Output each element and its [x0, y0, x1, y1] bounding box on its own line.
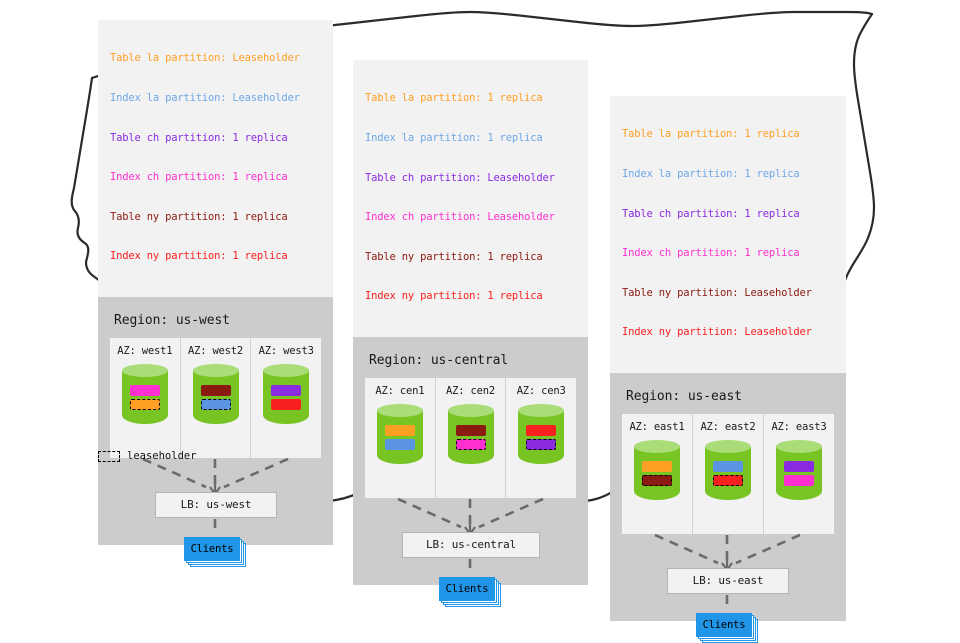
partition-stripe: [784, 461, 814, 472]
region-panel-us-west: Region: us-west AZ: west1 AZ: west2: [98, 297, 333, 545]
region-panel-us-central: Region: us-central AZ: cen1 AZ: cen2: [353, 337, 588, 585]
clients-label: Clients: [696, 613, 752, 637]
partition-line: Index la partition: Leaseholder: [110, 92, 323, 105]
region-title: Region: us-east: [626, 389, 834, 404]
az-row: AZ: cen1 AZ: cen2: [365, 378, 576, 498]
database-icon: [263, 364, 309, 430]
partition-stripe: [201, 385, 231, 396]
database-icon: [776, 440, 822, 506]
partition-stripe: [784, 475, 814, 486]
partition-line: Table ny partition: 1 replica: [365, 251, 578, 264]
az-label: AZ: cen3: [517, 385, 566, 397]
partition-stripe: [130, 385, 160, 396]
az-cell-cen2[interactable]: AZ: cen2: [435, 378, 506, 498]
az-cell-east3[interactable]: AZ: east3: [763, 414, 834, 534]
partition-line: Index ny partition: 1 replica: [365, 290, 578, 303]
partition-line: Index ny partition: Leaseholder: [622, 326, 836, 339]
partition-stripe: [456, 425, 486, 436]
partition-line: Table ny partition: Leaseholder: [622, 287, 836, 300]
leaseholder-legend-label: leaseholder: [127, 450, 197, 462]
partition-line: Index ny partition: 1 replica: [110, 250, 323, 263]
region-us-east: Table la partition: 1 replica Index la p…: [610, 96, 846, 621]
az-cell-west1[interactable]: AZ: west1: [110, 338, 180, 458]
clients-label: Clients: [439, 577, 495, 601]
partition-line: Table ny partition: 1 replica: [110, 211, 323, 224]
az-label: AZ: east3: [771, 421, 826, 433]
az-label: AZ: cen2: [446, 385, 495, 397]
partition-stripe: [385, 425, 415, 436]
partition-legend-us-central: Table la partition: 1 replica Index la p…: [353, 60, 588, 337]
az-row: AZ: west1 AZ: west2: [110, 338, 321, 458]
az-label: AZ: west3: [259, 345, 314, 357]
clients-us-central[interactable]: Clients: [439, 577, 501, 607]
partition-line: Index ch partition: 1 replica: [622, 247, 836, 260]
partition-line: Table la partition: Leaseholder: [110, 52, 323, 65]
partition-stripe: [271, 385, 301, 396]
leaseholder-legend: leaseholder: [98, 450, 197, 462]
az-row: AZ: east1 AZ: east2: [622, 414, 834, 534]
partition-line: Index ch partition: 1 replica: [110, 171, 323, 184]
az-label: AZ: east1: [629, 421, 684, 433]
partition-stripe-leaseholder: [713, 475, 743, 486]
az-cell-east2[interactable]: AZ: east2: [692, 414, 763, 534]
partition-stripe: [713, 461, 743, 472]
az-cell-east1[interactable]: AZ: east1: [622, 414, 692, 534]
database-icon: [705, 440, 751, 506]
partition-stripe: [385, 439, 415, 450]
load-balancer-us-west[interactable]: LB: us-west: [155, 492, 277, 518]
database-icon: [193, 364, 239, 430]
az-label: AZ: west2: [188, 345, 243, 357]
region-panel-us-east: Region: us-east AZ: east1 AZ: east2: [610, 373, 846, 621]
clients-us-west[interactable]: Clients: [184, 537, 246, 567]
region-us-west: Table la partition: Leaseholder Index la…: [98, 20, 333, 545]
region-title: Region: us-central: [369, 353, 576, 368]
az-cell-cen3[interactable]: AZ: cen3: [505, 378, 576, 498]
partition-line: Table la partition: 1 replica: [622, 128, 836, 141]
partition-stripe: [642, 461, 672, 472]
partition-line: Table ch partition: Leaseholder: [365, 172, 578, 185]
partition-stripe: [271, 399, 301, 410]
load-balancer-us-central[interactable]: LB: us-central: [402, 532, 540, 558]
partition-line: Index la partition: 1 replica: [365, 132, 578, 145]
az-label: AZ: west1: [117, 345, 172, 357]
az-cell-west3[interactable]: AZ: west3: [250, 338, 321, 458]
clients-us-east[interactable]: Clients: [696, 613, 758, 643]
partition-stripe-leaseholder: [642, 475, 672, 486]
partition-line: Table ch partition: 1 replica: [622, 208, 836, 221]
az-label: AZ: east2: [700, 421, 755, 433]
database-icon: [518, 404, 564, 470]
database-icon: [448, 404, 494, 470]
az-cell-cen1[interactable]: AZ: cen1: [365, 378, 435, 498]
dashed-rect-icon: [98, 451, 120, 462]
partition-stripe: [526, 425, 556, 436]
region-title: Region: us-west: [114, 313, 321, 328]
database-icon: [377, 404, 423, 470]
partition-line: Table la partition: 1 replica: [365, 92, 578, 105]
database-icon: [122, 364, 168, 430]
partition-line: Index ch partition: Leaseholder: [365, 211, 578, 224]
partition-stripe-leaseholder: [526, 439, 556, 450]
partition-legend-us-west: Table la partition: Leaseholder Index la…: [98, 20, 333, 297]
az-cell-west2[interactable]: AZ: west2: [180, 338, 251, 458]
partition-stripe-leaseholder: [130, 399, 160, 410]
load-balancer-us-east[interactable]: LB: us-east: [667, 568, 789, 594]
az-label: AZ: cen1: [375, 385, 424, 397]
partition-stripe-leaseholder: [456, 439, 486, 450]
clients-label: Clients: [184, 537, 240, 561]
partition-legend-us-east: Table la partition: 1 replica Index la p…: [610, 96, 846, 373]
partition-stripe-leaseholder: [201, 399, 231, 410]
database-icon: [634, 440, 680, 506]
partition-line: Table ch partition: 1 replica: [110, 132, 323, 145]
partition-line: Index la partition: 1 replica: [622, 168, 836, 181]
region-us-central: Table la partition: 1 replica Index la p…: [353, 60, 588, 585]
